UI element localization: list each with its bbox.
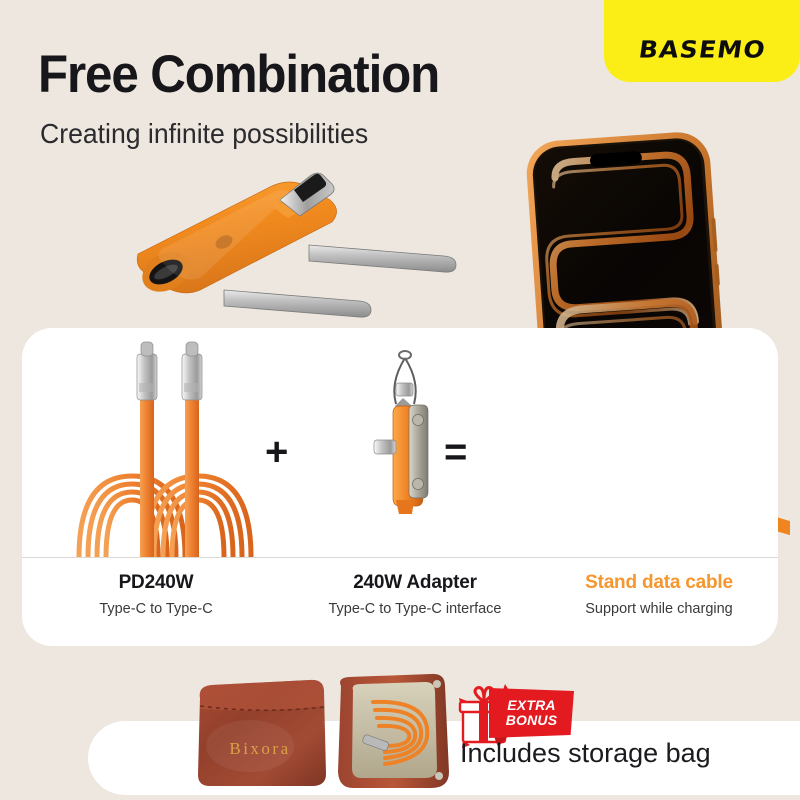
- usb-c-connector-left: [137, 342, 157, 400]
- operator-plus: +: [265, 432, 288, 472]
- product-desc: Type-C to Type-C interface: [290, 601, 540, 617]
- bonus-caption: Includes storage bag: [460, 738, 711, 769]
- product-label-adapter: 240W Adapter Type-C to Type-C interface: [290, 572, 540, 617]
- product-labels-row: PD240W Type-C to Type-C 240W Adapter Typ…: [22, 572, 778, 617]
- usb-c-connector-right: [182, 342, 202, 400]
- product-desc: Type-C to Type-C: [22, 601, 290, 617]
- page-subtitle: Creating infinite possibilities: [40, 118, 368, 150]
- brand-logo-badge: BASEMO: [604, 0, 800, 82]
- badge-line-2: BONUS: [506, 713, 558, 728]
- usb-c-adapter-product: [374, 351, 428, 514]
- product-desc: Support while charging: [540, 601, 778, 617]
- brand-logo-text: BASEMO: [637, 36, 768, 63]
- storage-bag-open-image: [327, 672, 455, 792]
- card-divider: [22, 557, 778, 558]
- cable-and-adapter-illustration: [22, 328, 778, 557]
- badge-line-1: EXTRA: [507, 698, 555, 713]
- storage-bag-closed-image: Bixora: [190, 676, 330, 788]
- operator-equals: =: [444, 432, 467, 472]
- promo-banner: BASEMO Free Combination Creating infinit…: [0, 0, 800, 800]
- hero-adapter-image: [104, 160, 484, 320]
- product-label-stand-cable: Stand data cable Support while charging: [540, 572, 778, 617]
- bag-brand-label: Bixora: [229, 739, 290, 758]
- combination-products-row: [22, 328, 778, 557]
- product-name: 240W Adapter: [290, 572, 540, 594]
- product-label-cable: PD240W Type-C to Type-C: [22, 572, 290, 617]
- page-title: Free Combination: [38, 44, 439, 105]
- product-name: Stand data cable: [540, 572, 778, 594]
- usb-c-cable-product: [79, 342, 251, 557]
- badge-banner: EXTRA BONUS: [489, 688, 574, 738]
- product-name: PD240W: [22, 572, 290, 594]
